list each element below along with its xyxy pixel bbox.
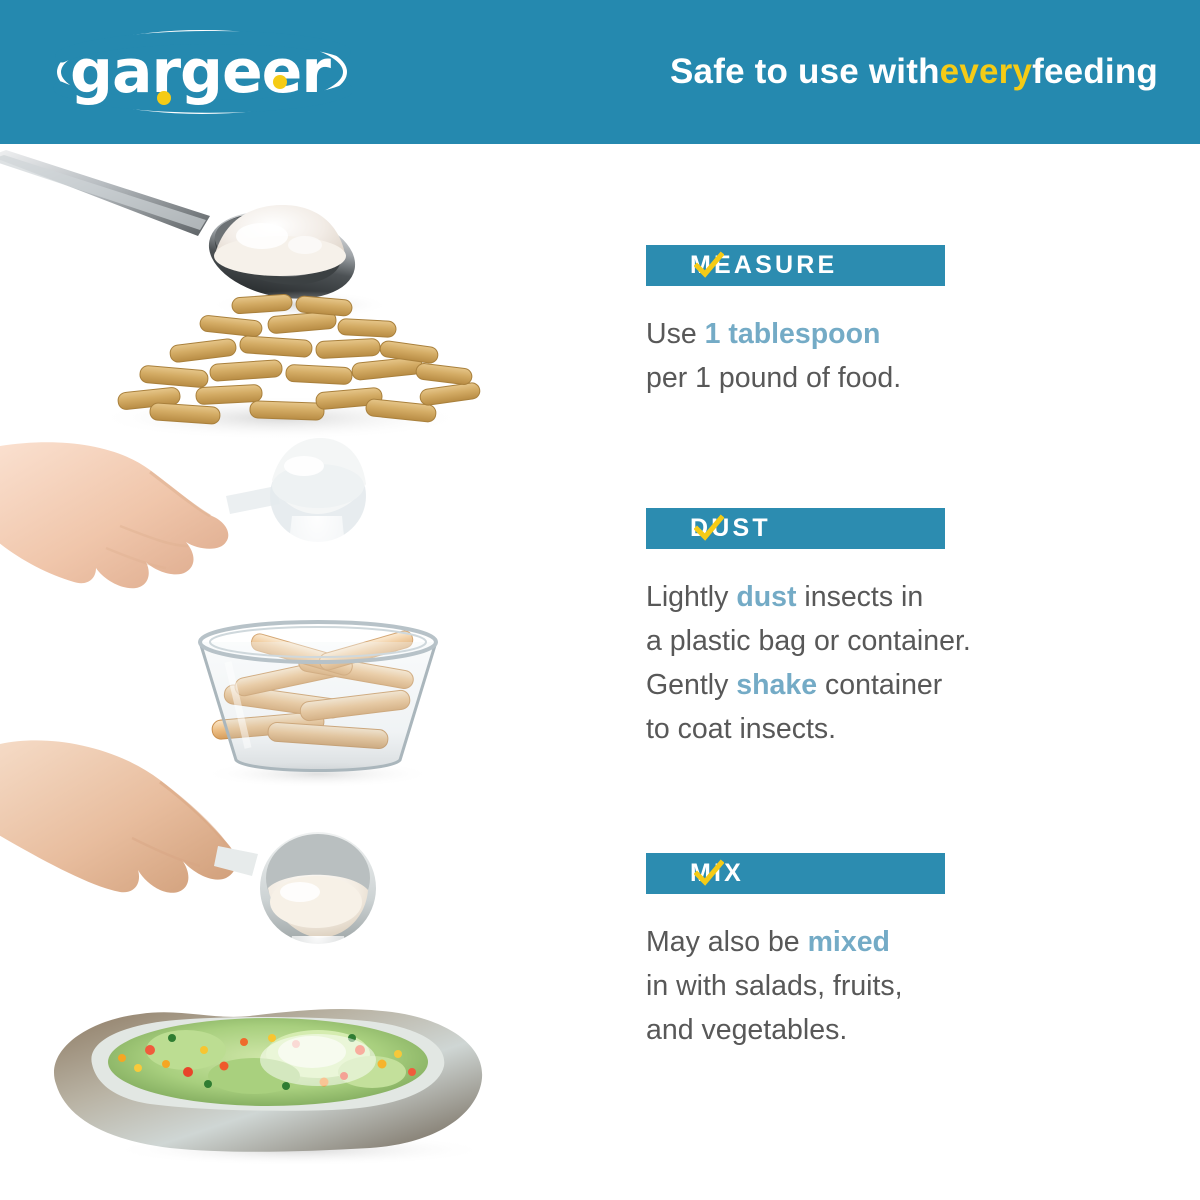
step-mix-line-2: in with salads, fruits, xyxy=(646,964,1166,1008)
step-dust-line-4: to coat insects. xyxy=(646,707,1166,751)
spoon-with-powder-over-pellets-image xyxy=(0,150,560,450)
step-measure-body: Use 1 tablespoon per 1 pound of food. xyxy=(646,312,1166,400)
step-measure-banner: MEASURE xyxy=(646,245,945,286)
line-prefix: Gently xyxy=(646,669,736,701)
line-suffix: insects in xyxy=(796,581,923,613)
step-dust-line-3: Gently shake container xyxy=(646,663,1166,707)
header-tagline: Safe to use with every feeding xyxy=(560,0,1180,144)
tagline-prefix: Safe to use with xyxy=(670,52,940,92)
line-bold: mixed xyxy=(808,926,890,958)
illustration-mix xyxy=(0,720,560,1170)
step-measure-line-1: Use 1 tablespoon xyxy=(646,312,1166,356)
step-dust: DUST Lightly dust insects in a plastic b… xyxy=(646,508,1166,751)
brand-logo[interactable]: gargeer xyxy=(52,26,352,118)
check-icon xyxy=(694,251,724,281)
step-mix-line-1: May also be mixed xyxy=(646,920,1166,964)
step-mix-body: May also be mixed in with salads, fruits… xyxy=(646,920,1166,1052)
line-prefix: Lightly xyxy=(646,581,736,613)
line-bold: dust xyxy=(736,581,796,613)
line-prefix: May also be xyxy=(646,926,808,958)
step-dust-line-1: Lightly dust insects in xyxy=(646,575,1166,619)
tagline-highlight: every xyxy=(940,52,1032,92)
step-mix-banner: MIX xyxy=(646,853,945,894)
check-icon xyxy=(694,514,724,544)
line-bold: 1 tablespoon xyxy=(705,318,881,350)
gargeer-swoosh-logo: gargeer xyxy=(52,26,352,118)
tagline-suffix: feeding xyxy=(1032,52,1158,92)
steps-column: MEASURE Use 1 tablespoon per 1 pound of … xyxy=(646,144,1166,1200)
illustration-measure xyxy=(0,150,560,450)
line-suffix: container xyxy=(817,669,942,701)
check-icon xyxy=(694,859,724,889)
svg-text:gargeer: gargeer xyxy=(70,37,331,107)
line-bold: shake xyxy=(736,669,817,701)
step-measure-line-2: per 1 pound of food. xyxy=(646,356,1166,400)
step-dust-banner: DUST xyxy=(646,508,945,549)
step-measure: MEASURE Use 1 tablespoon per 1 pound of … xyxy=(646,245,1166,400)
step-dust-line-2: a plastic bag or container. xyxy=(646,619,1166,663)
hand-scoop-powder-over-salad-dish-image xyxy=(0,720,560,1170)
step-mix-line-3: and vegetables. xyxy=(646,1008,1166,1052)
step-dust-body: Lightly dust insects in a plastic bag or… xyxy=(646,575,1166,751)
step-mix: MIX May also be mixed in with salads, fr… xyxy=(646,853,1166,1052)
header-bar: gargeer Safe to use with every feeding xyxy=(0,0,1200,144)
line-prefix: Use xyxy=(646,318,705,350)
